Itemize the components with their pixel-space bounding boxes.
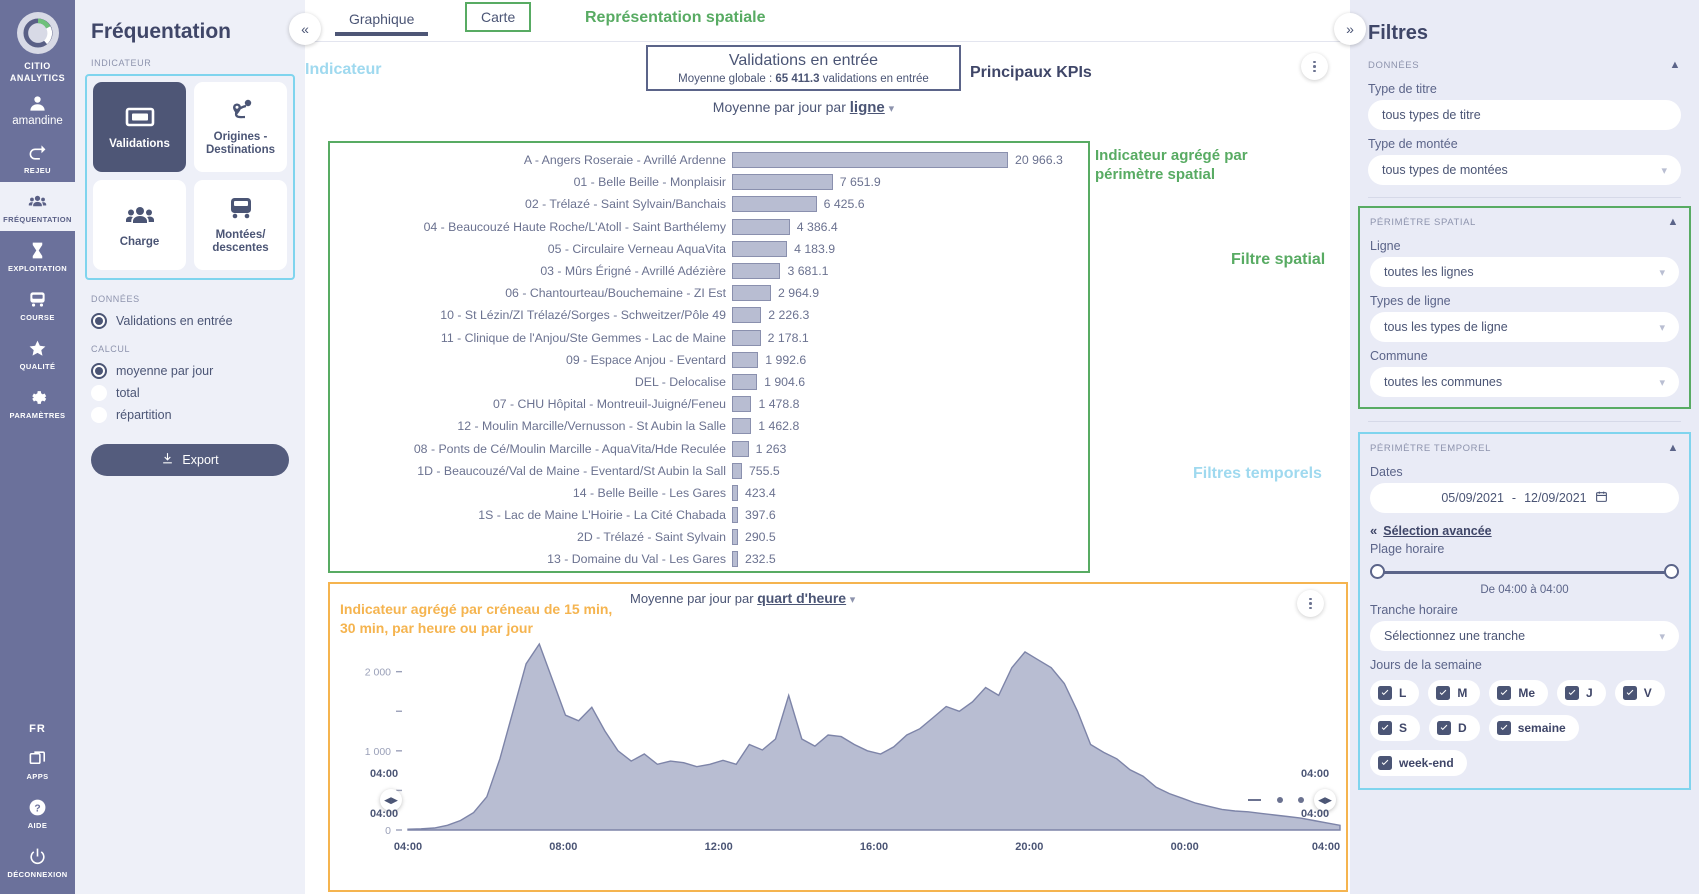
- bar-row-value: 4 386.4: [797, 220, 838, 234]
- sidebar-label-aide: AIDE: [28, 821, 48, 830]
- ticket-icon: [125, 104, 155, 133]
- bar-row-label: 08 - Ponts de Cé/Moulin Marcille - AquaV…: [330, 442, 732, 456]
- kpi-sub-suffix: validations en entrée: [820, 73, 929, 85]
- tab-carte[interactable]: Carte: [465, 2, 531, 32]
- annotation-filtre-spatial: Filtre spatial: [1231, 250, 1325, 269]
- sidebar-label-parametres: PARAMÈTRES: [10, 411, 66, 420]
- sidebar-item-parametres[interactable]: PARAMÈTRES: [0, 378, 75, 427]
- field-label-dates: Dates: [1370, 465, 1679, 479]
- help-icon: ?: [28, 797, 47, 817]
- rail-item-user[interactable]: amandine: [0, 84, 75, 133]
- x-axis-tick-label: 00:00: [1171, 841, 1199, 853]
- radio-icon: [91, 363, 107, 379]
- divider: [1368, 421, 1681, 422]
- bar-chart-panel: A - Angers Roseraie - Avrillé Ardenne20 …: [328, 141, 1090, 573]
- select-value: Sélectionnez une tranche: [1384, 629, 1525, 643]
- hourglass-icon: [28, 240, 47, 260]
- field-label-jours-de-la-semaine: Jours de la semaine: [1370, 658, 1679, 672]
- filter-group-donnees: DONNÉES ▲ Type de titre tous types de ti…: [1350, 53, 1699, 185]
- bar-chart-row[interactable]: 01 - Belle Beille - Monplaisir7 651.9: [330, 171, 1088, 193]
- radio-validations-en-entree[interactable]: Validations en entrée: [75, 310, 305, 332]
- field-label-ligne: Ligne: [1370, 239, 1679, 253]
- weekday-chip-d[interactable]: D: [1429, 715, 1480, 741]
- sidebar-label-apps: APPS: [26, 772, 48, 781]
- slider-right-time-top: 04:00: [1301, 768, 1329, 780]
- bar-row-track: 232.5: [732, 551, 1088, 567]
- bar-row-label: 09 - Espace Anjou - Eventard: [330, 353, 732, 367]
- brand-label: CITIOANALYTICS: [10, 60, 65, 84]
- bar-chart-row[interactable]: 11 - Clinique de l'Anjou/Ste Gemmes - La…: [330, 327, 1088, 349]
- bar-chart-row[interactable]: 04 - Beaucouzé Haute Roche/L'Atoll - Sai…: [330, 216, 1088, 238]
- calcul-section-label: CALCUL: [75, 332, 305, 360]
- language-selector[interactable]: FR: [29, 713, 46, 739]
- bar-row-value: 2 964.9: [778, 286, 819, 300]
- bar-row-fill: [732, 330, 761, 346]
- main-content: « Graphique Carte Validations en entrée …: [305, 0, 1350, 894]
- select-type-de-titre[interactable]: tous types de titre: [1368, 100, 1681, 130]
- sidebar-label-qualite: QUALITÉ: [20, 362, 56, 371]
- bar-chart-row[interactable]: 10 - St Lézin/ZI Trélazé/Sorges - Schwei…: [330, 304, 1088, 326]
- bar-row-fill: [732, 463, 742, 479]
- kpi-subtitle: Moyenne globale : 65 411.3 validations e…: [656, 73, 951, 85]
- field-label-tranche-horaire: Tranche horaire: [1370, 603, 1679, 617]
- checkbox-icon[interactable]: [1378, 756, 1392, 770]
- radio-label: moyenne par jour: [116, 364, 213, 378]
- filter-group-perimetre-temporel: PÉRIMÈTRE TEMPOREL ▲ Dates 05/09/2021 - …: [1358, 432, 1691, 790]
- bar-row-value: 2 226.3: [768, 308, 809, 322]
- area-chart-panel: Indicateur agrégé par créneau de 15 min,…: [328, 582, 1348, 892]
- apps-icon: [28, 748, 47, 768]
- radio-label: Validations en entrée: [116, 314, 233, 328]
- chevron-down-icon: ▾: [1659, 266, 1665, 279]
- bar-row-track: 2 226.3: [732, 307, 1088, 323]
- sidebar-item-frequentation[interactable]: FRÉQUENTATION: [0, 182, 75, 231]
- select-value: toutes les lignes: [1384, 265, 1474, 279]
- bar-row-fill: [732, 396, 751, 412]
- bar-row-track: 1 992.6: [732, 352, 1088, 368]
- slider-dot-2-icon: [1298, 797, 1304, 803]
- bar-row-label: 06 - Chantourteau/Bouchemaine - ZI Est: [330, 286, 732, 300]
- people-icon: [125, 202, 155, 231]
- bar-row-fill: [732, 152, 1008, 168]
- sidebar-item-apps[interactable]: APPS: [0, 739, 75, 788]
- field-label-plage-horaire: Plage horaire: [1370, 542, 1679, 556]
- bar-row-label: 11 - Clinique de l'Anjou/Ste Gemmes - La…: [330, 331, 732, 345]
- bar-row-fill: [732, 352, 758, 368]
- annotation-filtres-temporels: Filtres temporels: [1193, 464, 1322, 483]
- indicator-label-montees-descentes: Montées/ descentes: [198, 229, 283, 255]
- select-value: tous les types de ligne: [1384, 320, 1508, 334]
- radio-moyenne-par-jour[interactable]: moyenne par jour: [75, 360, 305, 382]
- bar-row-value: 397.6: [745, 508, 776, 522]
- user-name: amandine: [12, 117, 63, 126]
- bar-row-fill: [732, 219, 790, 235]
- kpi-value: 65 411.3: [775, 73, 819, 85]
- filter-group-perimetre-spatial: PÉRIMÈTRE SPATIAL ▲ Ligne toutes les lig…: [1358, 206, 1691, 409]
- bar-row-label: 07 - CHU Hôpital - Montreuil-Juigné/Fene…: [330, 397, 732, 411]
- bar-chart-row[interactable]: 02 - Trélazé - Saint Sylvain/Banchais6 4…: [330, 193, 1088, 215]
- select-value: tous types de titre: [1382, 108, 1481, 122]
- bar-row-value: 1 478.8: [758, 397, 799, 411]
- checkbox-icon[interactable]: [1436, 686, 1450, 700]
- bar-row-fill: [732, 285, 771, 301]
- time-range-caption: De 04:00 à 04:00: [1370, 584, 1679, 596]
- sidebar-item-rejeu[interactable]: REJEU: [0, 133, 75, 182]
- radio-icon: [91, 407, 107, 423]
- filter-group-header-perimetre-temporel[interactable]: PÉRIMÈTRE TEMPOREL ▲: [1370, 436, 1679, 458]
- time-range-slider[interactable]: [1370, 563, 1679, 581]
- select-type-de-montee[interactable]: tous types de montées ▾: [1368, 155, 1681, 185]
- bar-row-label: 10 - St Lézin/ZI Trélazé/Sorges - Schwei…: [330, 308, 732, 322]
- bar-chart-row[interactable]: DEL - Delocalise1 904.6: [330, 371, 1088, 393]
- sidebar-label-course: COURSE: [20, 313, 55, 322]
- select-types-de-ligne[interactable]: tous les types de ligne ▾: [1370, 312, 1679, 342]
- weekday-label: J: [1586, 686, 1593, 700]
- kpi-box: Validations en entrée Moyenne globale : …: [646, 45, 961, 91]
- chevron-double-left-icon: «: [1370, 523, 1377, 538]
- bus-icon: [226, 195, 256, 224]
- sidebar-item-deconnexion[interactable]: DÉCONNEXION: [0, 837, 75, 886]
- gear-icon: [28, 387, 47, 407]
- annotation-indicateur: Indicateur: [305, 60, 381, 79]
- indicator-label-charge: Charge: [120, 236, 160, 249]
- bar-chart-row[interactable]: 08 - Ponts de Cé/Moulin Marcille - AquaV…: [330, 437, 1088, 459]
- bar-row-value: 7 651.9: [840, 175, 881, 189]
- checkbox-icon[interactable]: [1565, 686, 1579, 700]
- slider-left-time-top: 04:00: [370, 768, 398, 780]
- chevron-up-icon[interactable]: ▲: [1668, 442, 1680, 454]
- bar-row-label: 02 - Trélazé - Saint Sylvain/Banchais: [330, 197, 732, 211]
- slider-right-time-bottom: 04:00: [1301, 808, 1329, 820]
- select-ligne[interactable]: toutes les lignes ▾: [1370, 257, 1679, 287]
- aggregation-selector-bar: Moyenne par jour par ligne ▾: [646, 99, 961, 116]
- left-config-panel: Fréquentation INDICATEUR Validations Ori…: [75, 0, 305, 894]
- bar-row-value: 1 263: [756, 442, 787, 456]
- indicateur-group: Validations Origines - Destinations Char…: [85, 74, 295, 280]
- bar-row-label: 2D - Trélazé - Saint Sylvain: [330, 530, 732, 544]
- annotation-representation-spatiale: Représentation spatiale: [585, 8, 766, 27]
- bar-row-fill: [732, 263, 780, 279]
- bar-chart-menu-button[interactable]: [1301, 53, 1328, 80]
- kpi-sub-prefix: Moyenne globale :: [678, 73, 775, 85]
- radio-label: répartition: [116, 408, 172, 422]
- date-range-field[interactable]: 05/09/2021 - 12/09/2021: [1370, 483, 1679, 513]
- bar-chart-row[interactable]: 2D - Trélazé - Saint Sylvain290.5: [330, 526, 1088, 548]
- bar-row-value: 2 178.1: [768, 331, 809, 345]
- y-axis-tick-label: 0: [385, 825, 391, 837]
- bar-row-track: 1 478.8: [732, 396, 1088, 412]
- bar-row-fill: [732, 307, 761, 323]
- filter-group-label: PÉRIMÈTRE TEMPOREL: [1370, 443, 1491, 454]
- bar-row-value: 6 425.6: [824, 197, 865, 211]
- bar-row-value: 755.5: [749, 464, 780, 478]
- collapse-right-panel-button[interactable]: »: [1334, 13, 1366, 45]
- kebab-icon: [1313, 61, 1316, 73]
- sidebar-label-rejeu: REJEU: [24, 166, 51, 175]
- bar-row-value: 1 462.8: [758, 419, 799, 433]
- area-aggregation-prefix: Moyenne par jour par: [630, 591, 754, 606]
- kpi-title: Validations en entrée: [656, 52, 951, 70]
- bar-chart-row[interactable]: 05 - Circulaire Verneau AquaVita4 183.9: [330, 238, 1088, 260]
- indicator-card-montees-descentes[interactable]: Montées/ descentes: [194, 180, 287, 270]
- bar-row-value: 1 904.6: [764, 375, 805, 389]
- bar-row-fill: [732, 374, 757, 390]
- chevron-down-icon[interactable]: ▾: [889, 103, 895, 115]
- radio-label: total: [116, 386, 140, 400]
- bar-chart-row[interactable]: 09 - Espace Anjou - Eventard1 992.6: [330, 349, 1088, 371]
- filter-group-label: PÉRIMÈTRE SPATIAL: [1370, 217, 1476, 228]
- sidebar-item-aide[interactable]: ? AIDE: [0, 788, 75, 837]
- people-icon: [28, 191, 47, 211]
- weekday-chip-week-end[interactable]: week-end: [1370, 750, 1467, 776]
- bar-row-label: A - Angers Roseraie - Avrillé Ardenne: [330, 153, 732, 167]
- filters-title: Filtres: [1350, 0, 1699, 53]
- bar-row-fill: [732, 441, 749, 457]
- bar-chart-row[interactable]: 07 - CHU Hôpital - Montreuil-Juigné/Fene…: [330, 393, 1088, 415]
- area-aggregation-selector: Moyenne par jour par quart d'heure ▾: [630, 590, 855, 606]
- left-nav-rail: CITIOANALYTICS amandine REJEU FRÉQUENTAT…: [0, 0, 75, 894]
- x-axis-tick-label: 20:00: [1015, 841, 1043, 853]
- weekday-label: D: [1458, 721, 1467, 735]
- sidebar-item-course[interactable]: COURSE: [0, 280, 75, 329]
- bar-row-track: 755.5: [732, 463, 1088, 479]
- checkbox-icon[interactable]: [1378, 686, 1392, 700]
- select-value: tous types de montées: [1382, 163, 1508, 177]
- bar-row-value: 20 966.3: [1015, 153, 1063, 167]
- field-label-commune: Commune: [1370, 349, 1679, 363]
- bar-row-track: 20 966.3: [732, 152, 1088, 168]
- chevron-down-icon[interactable]: ▾: [850, 594, 856, 606]
- bar-row-value: 290.5: [745, 530, 776, 544]
- select-tranche-horaire[interactable]: Sélectionnez une tranche ▾: [1370, 621, 1679, 651]
- bar-chart-row[interactable]: 14 - Belle Beille - Les Gares423.4: [330, 482, 1088, 504]
- bar-row-value: 423.4: [745, 486, 776, 500]
- donnees-section-label: DONNÉES: [75, 280, 305, 310]
- bar-row-label: 1D - Beaucouzé/Val de Maine - Eventard/S…: [330, 464, 732, 478]
- x-axis-tick-label: 04:00: [394, 841, 422, 853]
- radio-repartition[interactable]: répartition: [75, 404, 305, 426]
- weekday-chip-m[interactable]: M: [1428, 680, 1480, 706]
- bar-chart-row[interactable]: 12 - Moulin Marcille/Vernusson - St Aubi…: [330, 415, 1088, 437]
- slider-left-time-bottom: 04:00: [370, 808, 398, 820]
- checkbox-icon[interactable]: [1497, 721, 1511, 735]
- weekday-label: Me: [1518, 686, 1535, 700]
- advanced-selection-link[interactable]: « Sélection avancée: [1370, 523, 1679, 538]
- indicator-card-origines-destinations[interactable]: Origines - Destinations: [194, 82, 287, 172]
- bar-chart-row[interactable]: 13 - Domaine du Val - Les Gares232.5: [330, 548, 1088, 570]
- checkbox-icon[interactable]: [1497, 686, 1511, 700]
- bus-icon: [28, 289, 47, 309]
- bar-row-track: 1 904.6: [732, 374, 1088, 390]
- checkbox-icon[interactable]: [1623, 686, 1637, 700]
- bar-row-track: 7 651.9: [732, 174, 1088, 190]
- bar-row-track: 3 681.1: [732, 263, 1088, 279]
- bar-row-label: 04 - Beaucouzé Haute Roche/L'Atoll - Sai…: [330, 220, 732, 234]
- filter-group-label: DONNÉES: [1368, 60, 1419, 71]
- sidebar-label-deconnexion: DÉCONNEXION: [7, 870, 67, 879]
- bar-row-label: 1S - Lac de Maine L'Hoirie - La Cité Cha…: [330, 508, 732, 522]
- field-label-types-de-ligne: Types de ligne: [1370, 294, 1679, 308]
- slider-knob-start[interactable]: [1370, 564, 1385, 579]
- bar-row-label: 14 - Belle Beille - Les Gares: [330, 486, 732, 500]
- bar-row-value: 1 992.6: [765, 353, 806, 367]
- bar-row-fill: [732, 551, 738, 567]
- chevron-down-icon: ▾: [1659, 321, 1665, 334]
- slider-knob-end[interactable]: [1664, 564, 1679, 579]
- indicator-card-validations[interactable]: Validations: [93, 82, 186, 172]
- checkbox-icon[interactable]: [1378, 721, 1392, 735]
- bar-row-fill: [732, 529, 738, 545]
- bar-row-fill: [732, 485, 738, 501]
- indicator-card-charge[interactable]: Charge: [93, 180, 186, 270]
- x-axis-tick-label: 16:00: [860, 841, 888, 853]
- user-icon: [28, 93, 47, 113]
- weekday-checkbox-group: LMMeJVSDsemaineweek-end: [1370, 680, 1679, 776]
- field-label-type-de-montee: Type de montée: [1368, 137, 1681, 151]
- refresh-icon: [28, 142, 47, 162]
- weekday-chip-v[interactable]: V: [1615, 680, 1665, 706]
- sidebar-label-frequentation: FRÉQUENTATION: [3, 215, 72, 224]
- bar-row-label: 01 - Belle Beille - Monplaisir: [330, 175, 732, 189]
- weekday-chip-me[interactable]: Me: [1489, 680, 1548, 706]
- x-axis-tick-label: 12:00: [705, 841, 733, 853]
- advanced-selection-label: Sélection avancée: [1383, 524, 1491, 538]
- bar-chart-row[interactable]: 1D - Beaucouzé/Val de Maine - Eventard/S…: [330, 460, 1088, 482]
- weekday-chip-s[interactable]: S: [1370, 715, 1420, 741]
- bar-row-track: 423.4: [732, 485, 1088, 501]
- bar-row-fill: [732, 507, 738, 523]
- calendar-icon[interactable]: [1595, 490, 1608, 506]
- chevron-down-icon: ▾: [1659, 376, 1665, 389]
- chevron-down-icon: ▾: [1661, 164, 1667, 177]
- area-chart: 01 0002 00004:0008:0012:0016:0020:0000:0…: [330, 630, 1346, 888]
- area-aggregation-value[interactable]: quart d'heure: [757, 590, 846, 606]
- bar-row-label: 03 - Mûrs Érigné - Avrillé Adézière: [330, 264, 732, 278]
- weekday-label: L: [1399, 686, 1406, 700]
- download-icon: [161, 452, 174, 468]
- slider-dash-icon: [1248, 799, 1261, 801]
- field-label-type-de-titre: Type de titre: [1368, 82, 1681, 96]
- sidebar-item-exploitation[interactable]: EXPLOITATION: [0, 231, 75, 280]
- checkbox-icon[interactable]: [1437, 721, 1451, 735]
- bar-row-track: 4 386.4: [732, 219, 1088, 235]
- annotation-kpis: Principaux KPIs: [970, 63, 1092, 82]
- bar-row-track: 6 425.6: [732, 196, 1088, 212]
- bar-row-track: 290.5: [732, 529, 1088, 545]
- power-icon: [28, 846, 47, 866]
- slider-dot-1-icon: [1277, 797, 1283, 803]
- bar-row-track: 2 964.9: [732, 285, 1088, 301]
- weekday-chip-semaine[interactable]: semaine: [1489, 715, 1579, 741]
- filter-group-header-donnees[interactable]: DONNÉES ▲: [1368, 53, 1681, 75]
- bar-row-value: 3 681.1: [787, 264, 828, 278]
- chevron-up-icon[interactable]: ▲: [1668, 216, 1680, 228]
- bar-row-fill: [732, 196, 817, 212]
- y-axis-tick-label: 2 000: [365, 667, 391, 679]
- radio-icon: [91, 385, 107, 401]
- x-axis-tick-label: 04:00: [1312, 841, 1340, 853]
- bar-chart: A - Angers Roseraie - Avrillé Ardenne20 …: [330, 143, 1088, 571]
- area-chart-series: [408, 644, 1340, 830]
- weekday-label: week-end: [1399, 756, 1454, 770]
- x-axis-tick-label: 08:00: [549, 841, 577, 853]
- weekday-chip-l[interactable]: L: [1370, 680, 1419, 706]
- bar-row-track: 1 263: [732, 441, 1088, 457]
- bar-row-value: 232.5: [745, 552, 776, 566]
- sidebar-label-exploitation: EXPLOITATION: [8, 264, 67, 273]
- collapse-left-panel-button[interactable]: «: [289, 13, 321, 45]
- date-start: 05/09/2021: [1441, 491, 1504, 505]
- right-filter-panel: » Filtres DONNÉES ▲ Type de titre tous t…: [1350, 0, 1699, 894]
- select-value: toutes les communes: [1384, 375, 1502, 389]
- weekday-chip-j[interactable]: J: [1557, 680, 1606, 706]
- indicator-label-origines-destinations: Origines - Destinations: [198, 131, 283, 157]
- divider: [1368, 197, 1681, 198]
- filter-group-header-perimetre-spatial[interactable]: PÉRIMÈTRE SPATIAL ▲: [1370, 210, 1679, 232]
- area-chart-menu-button[interactable]: [1297, 590, 1324, 617]
- bar-row-label: 05 - Circulaire Verneau AquaVita: [330, 242, 732, 256]
- sidebar-item-qualite[interactable]: QUALITÉ: [0, 329, 75, 378]
- bar-row-label: 12 - Moulin Marcille/Vernusson - St Aubi…: [330, 419, 732, 433]
- radio-icon: [91, 313, 107, 329]
- app-logo-icon: [17, 12, 59, 54]
- bar-row-fill: [732, 241, 787, 257]
- aggregation-value[interactable]: ligne: [850, 99, 885, 116]
- tab-graphique[interactable]: Graphique: [335, 6, 428, 36]
- kebab-icon: [1309, 598, 1312, 610]
- export-button[interactable]: Export: [91, 444, 289, 476]
- page-title: Fréquentation: [75, 0, 305, 54]
- star-icon: [28, 338, 47, 358]
- weekday-label: M: [1457, 686, 1467, 700]
- radio-total[interactable]: total: [75, 382, 305, 404]
- bar-row-track: 1 462.8: [732, 418, 1088, 434]
- aggregation-prefix: Moyenne par jour par: [713, 99, 846, 115]
- bar-row-label: DEL - Delocalise: [330, 375, 732, 389]
- bar-row-fill: [732, 174, 833, 190]
- annotation-indicateur-agrege: Indicateur agrégé par périmètre spatial: [1095, 146, 1295, 184]
- bar-row-fill: [732, 418, 751, 434]
- indicateur-section-label: INDICATEUR: [75, 54, 305, 74]
- weekday-label: semaine: [1518, 721, 1566, 735]
- chevron-down-icon: ▾: [1659, 630, 1665, 643]
- bar-row-track: 397.6: [732, 507, 1088, 523]
- route-icon: [226, 97, 256, 126]
- bar-row-track: 2 178.1: [732, 330, 1088, 346]
- weekday-label: S: [1399, 721, 1407, 735]
- select-commune[interactable]: toutes les communes ▾: [1370, 367, 1679, 397]
- date-separator: -: [1512, 491, 1516, 505]
- y-axis-tick-label: 1 000: [365, 746, 391, 758]
- bar-chart-row[interactable]: A - Angers Roseraie - Avrillé Ardenne20 …: [330, 149, 1088, 171]
- chevron-up-icon[interactable]: ▲: [1670, 59, 1682, 71]
- weekday-label: V: [1644, 686, 1652, 700]
- bar-row-label: 13 - Domaine du Val - Les Gares: [330, 552, 732, 566]
- bar-row-track: 4 183.9: [732, 241, 1088, 257]
- indicator-label-validations: Validations: [109, 138, 170, 151]
- svg-text:?: ?: [34, 803, 40, 814]
- bar-chart-row[interactable]: 1S - Lac de Maine L'Hoirie - La Cité Cha…: [330, 504, 1088, 526]
- slider-track: [1375, 571, 1674, 574]
- bar-chart-row[interactable]: 03 - Mûrs Érigné - Avrillé Adézière3 681…: [330, 260, 1088, 282]
- bar-row-value: 4 183.9: [794, 242, 835, 256]
- export-label: Export: [182, 453, 218, 467]
- date-end: 12/09/2021: [1524, 491, 1587, 505]
- tab-bar: « Graphique Carte: [305, 0, 1350, 42]
- bar-chart-row[interactable]: 06 - Chantourteau/Bouchemaine - ZI Est2 …: [330, 282, 1088, 304]
